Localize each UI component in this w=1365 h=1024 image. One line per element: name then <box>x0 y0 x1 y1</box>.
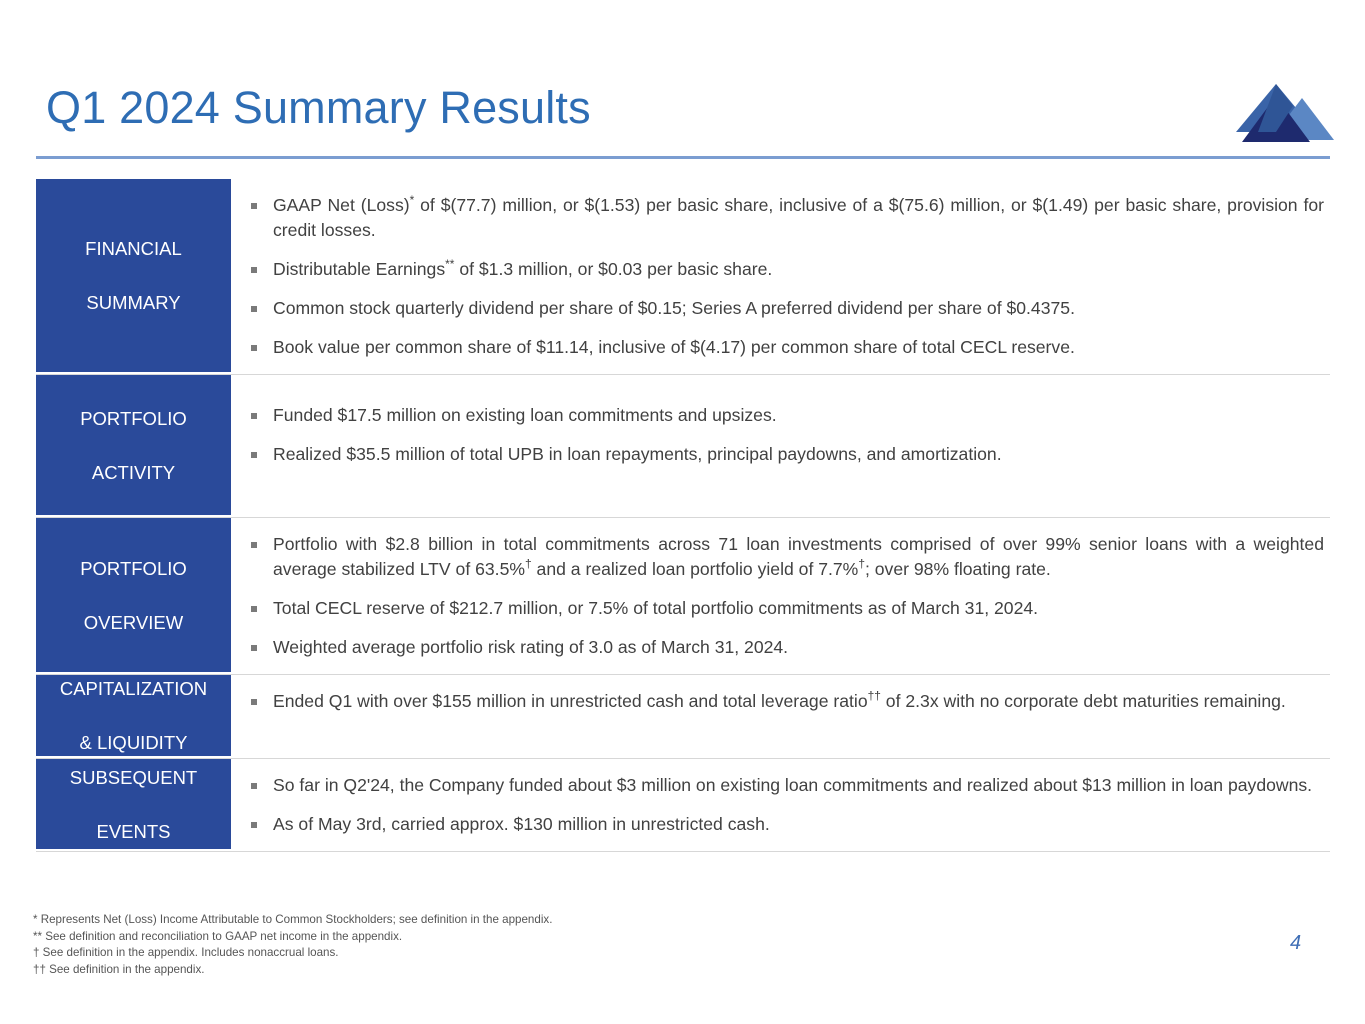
category-label-line2: SUMMARY <box>85 289 182 316</box>
category-capitalization-liquidity: CAPITALIZATION & LIQUIDITY <box>36 675 231 758</box>
list-item: Ended Q1 with over $155 million in unres… <box>243 689 1324 714</box>
list-item: GAAP Net (Loss)* of $(77.7) million, or … <box>243 193 1324 243</box>
list-item: Distributable Earnings** of $1.3 million… <box>243 257 1324 282</box>
category-portfolio-overview: PORTFOLIO OVERVIEW <box>36 518 231 674</box>
list-item: Common stock quarterly dividend per shar… <box>243 296 1324 321</box>
category-label-line2: & LIQUIDITY <box>60 729 207 756</box>
page-number: 4 <box>1290 932 1301 955</box>
category-financial-summary: FINANCIAL SUMMARY <box>36 179 231 374</box>
list-item: Funded $17.5 million on existing loan co… <box>243 403 1324 428</box>
table-row: FINANCIAL SUMMARY GAAP Net (Loss)* of $(… <box>36 178 1330 375</box>
bullet-list: So far in Q2'24, the Company funded abou… <box>243 773 1324 837</box>
table-row: PORTFOLIO OVERVIEW Portfolio with $2.8 b… <box>36 518 1330 675</box>
bullet-list: GAAP Net (Loss)* of $(77.7) million, or … <box>243 193 1324 360</box>
footnote-double-asterisk: ** See definition and reconciliation to … <box>33 929 552 946</box>
list-item: So far in Q2'24, the Company funded abou… <box>243 773 1324 798</box>
page-title: Q1 2024 Summary Results <box>46 82 591 134</box>
category-label-line2: ACTIVITY <box>80 459 187 486</box>
table-row: SUBSEQUENT EVENTS So far in Q2'24, the C… <box>36 759 1330 852</box>
category-label-line1: PORTFOLIO <box>80 405 187 432</box>
category-label-line1: PORTFOLIO <box>80 555 187 582</box>
mountain-logo-icon <box>1232 84 1334 148</box>
list-item: Portfolio with $2.8 billion in total com… <box>243 532 1324 582</box>
table-row: CAPITALIZATION & LIQUIDITY Ended Q1 with… <box>36 675 1330 759</box>
title-divider <box>36 156 1330 159</box>
category-label-line2: EVENTS <box>70 818 197 845</box>
list-item: Book value per common share of $11.14, i… <box>243 335 1324 360</box>
category-label-line1: SUBSEQUENT <box>70 764 197 791</box>
section-body-financial-summary: GAAP Net (Loss)* of $(77.7) million, or … <box>231 179 1330 374</box>
list-item: Realized $35.5 million of total UPB in l… <box>243 442 1324 467</box>
category-subsequent-events: SUBSEQUENT EVENTS <box>36 759 231 851</box>
category-label-line1: CAPITALIZATION <box>60 675 207 702</box>
footnotes: * Represents Net (Loss) Income Attributa… <box>33 912 552 978</box>
category-label-line2: OVERVIEW <box>80 609 187 636</box>
category-portfolio-activity: PORTFOLIO ACTIVITY <box>36 375 231 517</box>
bullet-list: Ended Q1 with over $155 million in unres… <box>243 689 1324 714</box>
bullet-list: Portfolio with $2.8 billion in total com… <box>243 532 1324 660</box>
footnote-dagger: † See definition in the appendix. Includ… <box>33 945 552 962</box>
section-body-portfolio-overview: Portfolio with $2.8 billion in total com… <box>231 518 1330 674</box>
list-item: Total CECL reserve of $212.7 million, or… <box>243 596 1324 621</box>
list-item: As of May 3rd, carried approx. $130 mill… <box>243 812 1324 837</box>
footnote-double-dagger: †† See definition in the appendix. <box>33 962 552 979</box>
slide: Q1 2024 Summary Results FINANCIAL SUMMAR… <box>0 0 1365 1024</box>
category-label-line1: FINANCIAL <box>85 235 182 262</box>
bullet-list: Funded $17.5 million on existing loan co… <box>243 403 1324 467</box>
section-body-portfolio-activity: Funded $17.5 million on existing loan co… <box>231 375 1330 517</box>
summary-table: FINANCIAL SUMMARY GAAP Net (Loss)* of $(… <box>36 178 1330 852</box>
list-item: Weighted average portfolio risk rating o… <box>243 635 1324 660</box>
table-row: PORTFOLIO ACTIVITY Funded $17.5 million … <box>36 375 1330 518</box>
footnote-asterisk: * Represents Net (Loss) Income Attributa… <box>33 912 552 929</box>
section-body-subsequent-events: So far in Q2'24, the Company funded abou… <box>231 759 1330 851</box>
section-body-capitalization-liquidity: Ended Q1 with over $155 million in unres… <box>231 675 1330 758</box>
